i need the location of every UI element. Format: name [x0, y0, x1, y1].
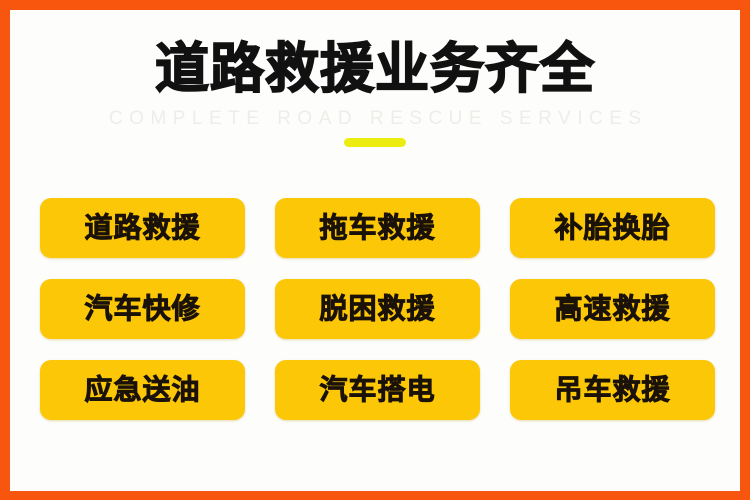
- service-chip-label: 脱困救援: [319, 293, 435, 325]
- service-chip-tow-rescue[interactable]: 拖车救援: [275, 198, 480, 258]
- service-chip-emergency-fuel-delivery[interactable]: 应急送油: [40, 360, 245, 420]
- poster-frame: 道路救援业务齐全 COMPLETE ROAD RESCUE SERVICES 道…: [0, 0, 750, 500]
- header: 道路救援业务齐全 COMPLETE ROAD RESCUE SERVICES: [10, 38, 740, 147]
- accent-underline: [344, 138, 406, 147]
- service-chip-label: 吊车救援: [554, 374, 670, 406]
- service-chip-label: 高速救援: [554, 293, 670, 325]
- service-chip-label: 汽车快修: [84, 293, 200, 325]
- service-chip-label: 补胎换胎: [554, 212, 670, 244]
- service-chip-highway-rescue[interactable]: 高速救援: [510, 279, 715, 339]
- service-chip-tire-repair-replace[interactable]: 补胎换胎: [510, 198, 715, 258]
- service-chip-crane-rescue[interactable]: 吊车救援: [510, 360, 715, 420]
- service-chip-label: 应急送油: [84, 374, 200, 406]
- service-chip-jump-start[interactable]: 汽车搭电: [275, 360, 480, 420]
- service-chip-quick-car-repair[interactable]: 汽车快修: [40, 279, 245, 339]
- service-chip-label: 道路救援: [84, 212, 200, 244]
- services-grid: 道路救援 拖车救援 补胎换胎 汽车快修 脱困救援 高速救援 应急送油 汽车搭电: [40, 198, 715, 420]
- page-subtitle: COMPLETE ROAD RESCUE SERVICES: [10, 108, 740, 130]
- service-chip-label: 汽车搭电: [319, 374, 435, 406]
- page-title: 道路救援业务齐全: [10, 38, 740, 100]
- service-chip-extrication-rescue[interactable]: 脱困救援: [275, 279, 480, 339]
- service-chip-road-rescue[interactable]: 道路救援: [40, 198, 245, 258]
- service-chip-label: 拖车救援: [319, 212, 435, 244]
- poster-canvas: 道路救援业务齐全 COMPLETE ROAD RESCUE SERVICES 道…: [10, 10, 740, 491]
